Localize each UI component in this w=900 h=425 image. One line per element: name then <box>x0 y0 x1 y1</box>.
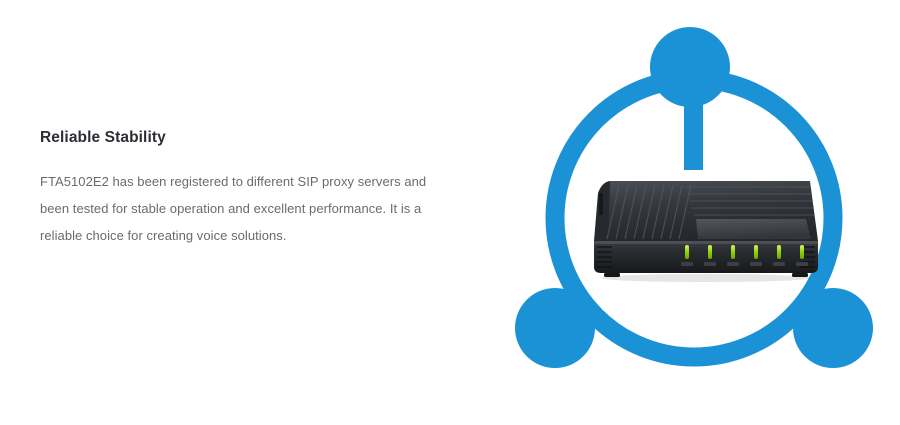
device-left-slot <box>599 193 603 215</box>
page-title: Reliable Stability <box>40 128 430 148</box>
device-front-edge-highlight <box>594 241 818 244</box>
device-shadow <box>601 274 811 282</box>
device-front-face <box>594 241 818 273</box>
node-bottom-left-icon <box>515 288 595 368</box>
node-top-icon <box>650 27 730 107</box>
node-bottom-right-icon <box>793 288 873 368</box>
feature-illustration <box>470 0 900 425</box>
feature-description: FTA5102E2 has been registered to differe… <box>40 168 430 249</box>
voip-gateway-device-image <box>578 163 821 285</box>
feature-text-block: Reliable Stability FTA5102E2 has been re… <box>40 128 430 249</box>
device-top-panel <box>696 219 811 239</box>
